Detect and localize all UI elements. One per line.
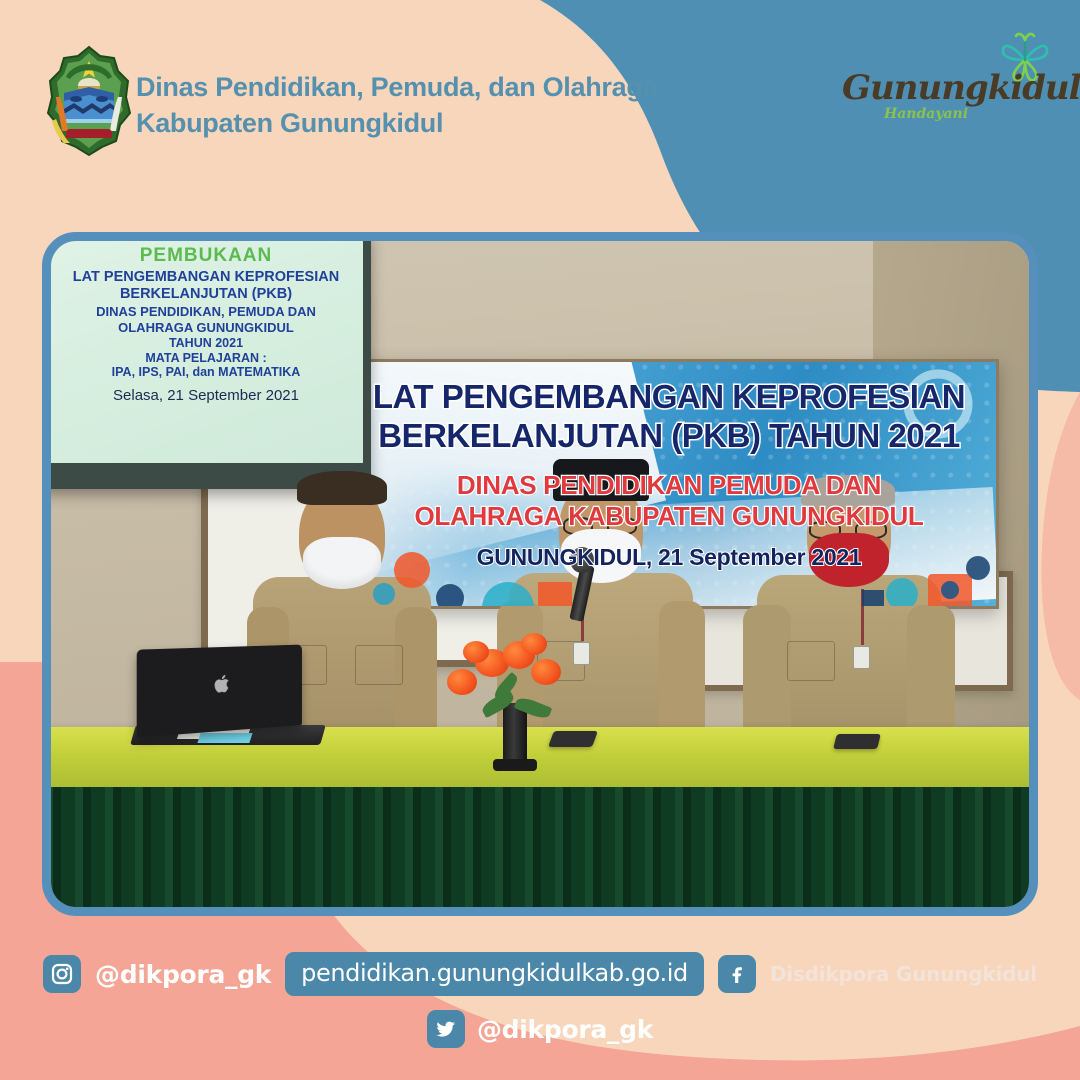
footer-row-primary: @dikpora_gk pendidikan.gunungkidulkab.go…: [0, 952, 1080, 996]
banner-text-block: LAT PENGEMBANGAN KEPROFESIAN BERKELANJUT…: [342, 378, 996, 571]
mobile-phone-center: [548, 731, 598, 747]
twitter-glyph: [434, 1017, 458, 1041]
banner-title: LAT PENGEMBANGAN KEPROFESIAN BERKELANJUT…: [342, 378, 996, 456]
instagram-handle[interactable]: @dikpora_gk: [95, 960, 271, 989]
banner-subtitle: DINAS PENDIDIKAN PEMUDA DAN OLAHRAGA KAB…: [342, 470, 996, 532]
facebook-page-name[interactable]: Disdikpora Gunungkidul: [770, 962, 1037, 986]
speaker-right-pocket: [787, 641, 835, 681]
regency-crest-icon: [46, 45, 132, 157]
speaker-center-id-badge: [573, 642, 590, 665]
facebook-icon[interactable]: [718, 955, 756, 993]
slide-heading: PEMBUKAAN: [53, 245, 359, 267]
brand-name: Gunungkidul: [842, 68, 1042, 108]
event-photo-card: LAT PENGEMBANGAN KEPROFESIAN BERKELANJUT…: [42, 232, 1038, 916]
banner-date: GUNUNGKIDUL, 21 September 2021: [342, 544, 996, 571]
slide-line3: DINAS PENDIDIKAN, PEMUDA DAN OLAHRAGA GU…: [53, 304, 359, 335]
page-title: Dinas Pendidikan, Pemuda, dan Olahraga K…: [136, 70, 657, 141]
flower-bloom: [463, 641, 489, 663]
website-url-pill[interactable]: pendidikan.gunungkidulkab.go.id: [285, 952, 704, 996]
flower-bloom: [447, 669, 477, 695]
flower-bloom: [531, 659, 561, 685]
flower-vase-base: [493, 759, 537, 771]
projector-slide: PEMBUKAAN LAT PENGEMBANGAN KEPROFESIAN B…: [49, 239, 363, 463]
apple-logo-icon: [215, 674, 232, 695]
twitter-icon[interactable]: [427, 1010, 465, 1048]
blue-item-on-table: [197, 733, 252, 743]
brand-tagline: Handayani: [884, 106, 968, 122]
social-media-footer: @dikpora_gk pendidikan.gunungkidulkab.go…: [0, 940, 1080, 1080]
instagram-glyph: [50, 962, 74, 986]
page-header: Dinas Pendidikan, Pemuda, dan Olahraga K…: [0, 0, 1080, 200]
laptop: [137, 645, 302, 738]
speaker-left-pocket-2: [355, 645, 403, 685]
slide-subjects: IPA, IPS, PAI, dan MATEMATIKA: [53, 365, 359, 379]
slide-year: TAHUN 2021: [53, 336, 359, 350]
flower-vase: [503, 703, 527, 767]
speaker-right-id-badge: [853, 646, 870, 669]
twitter-handle[interactable]: @dikpora_gk: [477, 1015, 653, 1044]
slide-subject-label: MATA PELAJARAN :: [53, 351, 359, 365]
slide-date: Selasa, 21 September 2021: [53, 387, 359, 404]
slide-line2: LAT PENGEMBANGAN KEPROFESIAN BERKELANJUT…: [53, 269, 359, 303]
event-photo: LAT PENGEMBANGAN KEPROFESIAN BERKELANJUT…: [51, 241, 1029, 907]
mobile-phone-right: [833, 734, 881, 749]
facebook-glyph: [725, 962, 749, 986]
flower-bloom: [521, 633, 547, 655]
footer-row-secondary: @dikpora_gk: [0, 1010, 1080, 1048]
projector-screen-frame: PEMBUKAAN LAT PENGEMBANGAN KEPROFESIAN B…: [42, 232, 371, 489]
gunungkidul-brandmark: Gunungkidul Handayani: [842, 30, 1062, 140]
event-banner: LAT PENGEMBANGAN KEPROFESIAN BERKELANJUT…: [339, 359, 999, 609]
instagram-icon[interactable]: [43, 955, 81, 993]
conference-table-skirt: [42, 787, 1038, 911]
